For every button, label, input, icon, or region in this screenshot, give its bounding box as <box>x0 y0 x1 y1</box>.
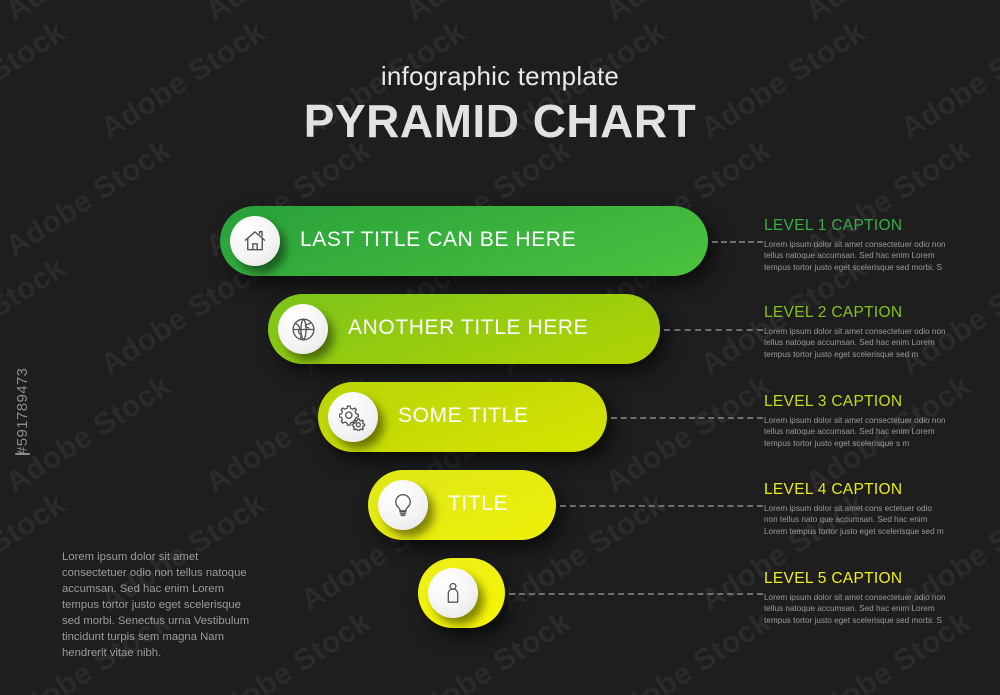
level-caption-title-3: LEVEL 3 CAPTION <box>764 393 946 412</box>
person-icon <box>441 581 465 605</box>
level-caption-title-2: LEVEL 2 CAPTION <box>764 304 946 323</box>
level-caption-body-3: Lorem ipsum dolor sit amet consectetuer … <box>764 415 946 450</box>
pyramid-bar-label-3: SOME TITLE <box>398 404 528 428</box>
pyramid-bar-label-1: LAST TITLE CAN BE HERE <box>300 228 576 252</box>
connector-line-1 <box>712 241 763 243</box>
level-caption-body-5: Lorem ipsum dolor sit amet consectetuer … <box>764 592 946 627</box>
stock-id-label: #591789473 <box>14 368 31 455</box>
connector-line-5 <box>509 593 763 595</box>
id-strip-bar <box>15 453 30 455</box>
page-subtitle: infographic template <box>0 62 1000 91</box>
connector-line-4 <box>560 505 763 507</box>
page-header: infographic template PYRAMID CHART <box>0 62 1000 147</box>
pyramid-bar-label-2: ANOTHER TITLE HERE <box>348 316 588 340</box>
home-icon-badge[interactable] <box>230 216 280 266</box>
level-caption-4: LEVEL 4 CAPTIONLorem ipsum dolor sit ame… <box>764 481 946 538</box>
lightbulb-icon <box>390 492 416 518</box>
globe-icon-badge[interactable] <box>278 304 328 354</box>
level-caption-body-4: Lorem ipsum dolor sit amet cons ectetuer… <box>764 503 946 538</box>
level-caption-title-4: LEVEL 4 CAPTION <box>764 481 946 500</box>
person-icon-badge[interactable] <box>428 568 478 618</box>
level-caption-body-2: Lorem ipsum dolor sit amet consectetuer … <box>764 326 946 361</box>
lightbulb-icon-badge[interactable] <box>378 480 428 530</box>
globe-icon <box>290 316 317 343</box>
level-caption-5: LEVEL 5 CAPTIONLorem ipsum dolor sit ame… <box>764 570 946 627</box>
level-caption-3: LEVEL 3 CAPTIONLorem ipsum dolor sit ame… <box>764 393 946 450</box>
pyramid-bar-label-4: TITLE <box>448 492 508 516</box>
level-caption-title-5: LEVEL 5 CAPTION <box>764 570 946 589</box>
level-caption-title-1: LEVEL 1 CAPTION <box>764 217 946 236</box>
gears-icon-badge[interactable] <box>328 392 378 442</box>
connector-line-3 <box>611 417 763 419</box>
level-caption-body-1: Lorem ipsum dolor sit amet consectetuer … <box>764 239 946 274</box>
level-caption-1: LEVEL 1 CAPTIONLorem ipsum dolor sit ame… <box>764 217 946 274</box>
stock-id-watermark: #591789473 <box>14 368 31 455</box>
home-icon <box>242 228 268 254</box>
footer-description: Lorem ipsum dolor sit amet consectetuer … <box>62 549 252 661</box>
connector-line-2 <box>664 329 763 331</box>
level-caption-2: LEVEL 2 CAPTIONLorem ipsum dolor sit ame… <box>764 304 946 361</box>
page-title: PYRAMID CHART <box>0 95 1000 148</box>
gears-icon <box>339 403 367 431</box>
